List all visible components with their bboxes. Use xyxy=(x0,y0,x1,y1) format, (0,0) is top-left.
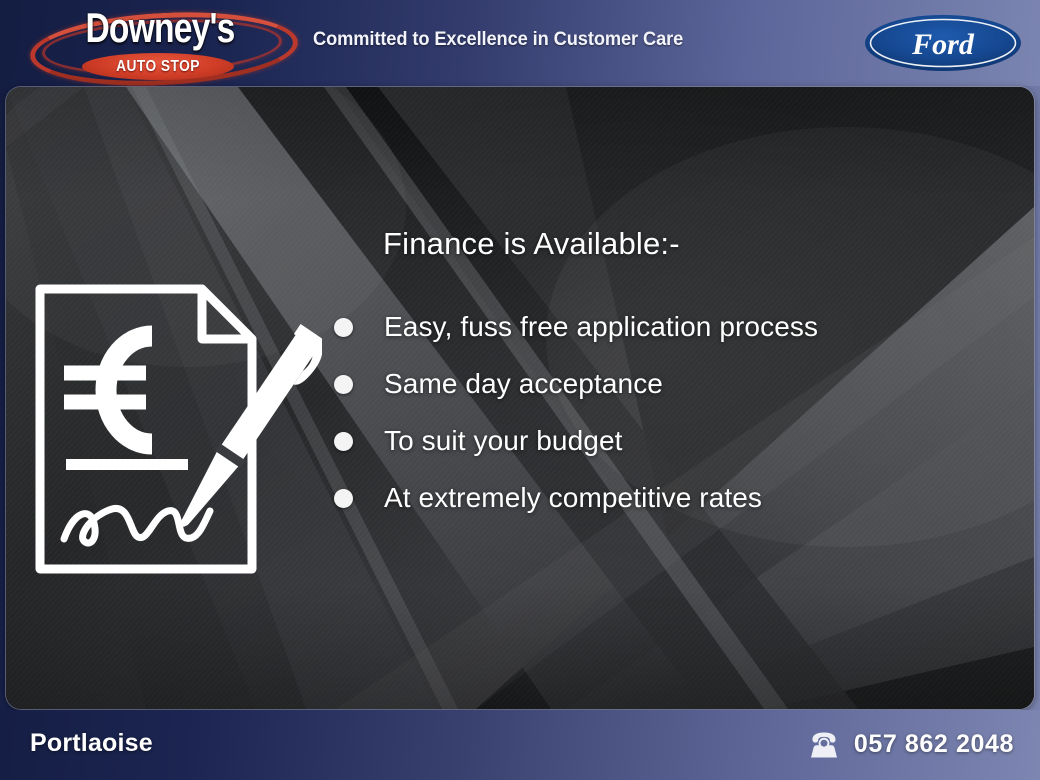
list-item-label: Easy, fuss free application process xyxy=(384,305,1021,349)
list-item: To suit your budget xyxy=(331,419,1021,476)
list-item: At extremely competitive rates xyxy=(331,476,1021,533)
finance-document-signature-icon xyxy=(34,283,322,575)
list-item: Easy, fuss free application process xyxy=(331,305,1021,362)
dealer-brand-subtitle: AUTO STOP xyxy=(93,53,224,80)
ford-oval-logo-icon[interactable]: Ford xyxy=(864,14,1022,72)
location-label: Portlaoise xyxy=(30,729,153,758)
list-item: Same day acceptance xyxy=(331,362,1021,419)
header-bar: Downey's AUTO STOP Committed to Excellen… xyxy=(0,0,1040,86)
page-title: Finance is Available:- xyxy=(383,226,680,262)
svg-text:Ford: Ford xyxy=(911,28,975,61)
telephone-icon xyxy=(807,732,841,758)
phone-contact[interactable]: 057 862 2048 xyxy=(807,730,1014,759)
list-item-label: At extremely competitive rates xyxy=(384,476,1021,520)
list-item-label: Same day acceptance xyxy=(384,362,1021,406)
bullet-dot-icon xyxy=(334,489,353,508)
dealer-brand-name: Downey's xyxy=(53,3,267,53)
benefits-list: Easy, fuss free application process Same… xyxy=(331,305,1021,533)
finance-promo-banner: Downey's AUTO STOP Committed to Excellen… xyxy=(0,0,1040,780)
footer-bar: Portlaoise 057 862 2048 xyxy=(0,710,1040,780)
header-tagline: Committed to Excellence in Customer Care xyxy=(313,29,683,51)
bullet-dot-icon xyxy=(334,318,353,337)
bullet-dot-icon xyxy=(334,375,353,394)
list-item-label: To suit your budget xyxy=(384,419,1021,463)
phone-number: 057 862 2048 xyxy=(854,730,1014,759)
bullet-dot-icon xyxy=(334,432,353,451)
dealer-logo[interactable]: Downey's AUTO STOP xyxy=(26,3,294,85)
promo-panel: Finance is Available:- Easy, fuss free a… xyxy=(6,87,1034,709)
